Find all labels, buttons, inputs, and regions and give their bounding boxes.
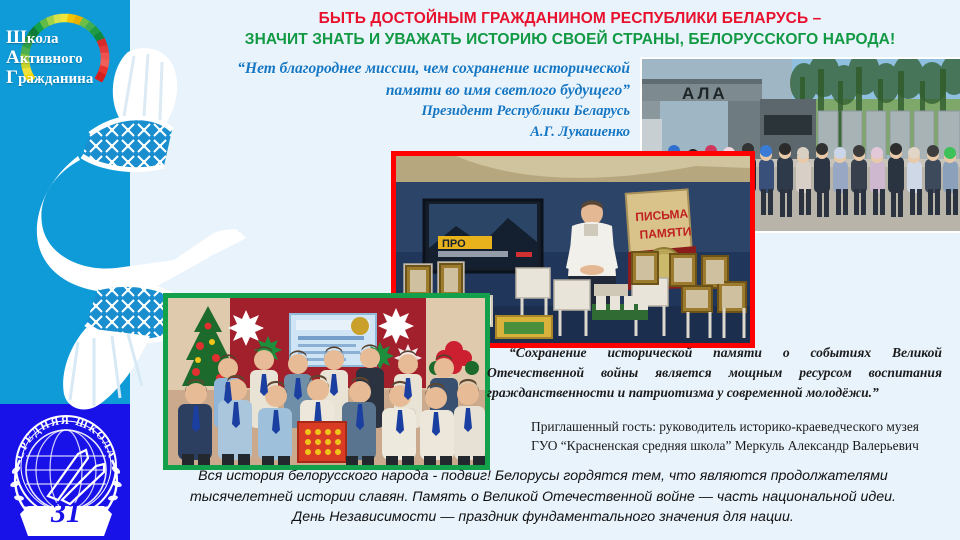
slide-title: БЫТЬ ДОСТОЙНЫМ ГРАЖДАНИНОМ РЕСПУБЛИКИ БЕ… <box>200 8 940 51</box>
photo-students-group <box>163 293 490 470</box>
title-line-1: БЫТЬ ДОСТОЙНЫМ ГРАЖДАНИНОМ РЕСПУБЛИКИ БЕ… <box>200 8 940 29</box>
bottom-narrative-text: Вся история белорусского народа - подвиг… <box>134 466 952 528</box>
emblem-number: 31 <box>4 496 128 530</box>
guest-block-quote: “Сохранение исторической памяти о событи… <box>487 343 942 403</box>
logo-line2-cap: А <box>6 47 20 68</box>
bottom-text-line-1: Вся история белорусского народа - подвиг… <box>134 466 952 487</box>
title-line-2: ЗНАЧИТ ЗНАТЬ И УВАЖАТЬ ИСТОРИЮ СВОЕЙ СТР… <box>200 29 940 50</box>
presentation-slide: Школа Активного Гражданина <box>0 0 960 540</box>
guest-info-line-2: ГУО “Красненская средняя школа” Меркуль … <box>505 436 945 455</box>
logo-line3-cap: Г <box>6 67 18 88</box>
president-quote: “Нет благороднее миссии, чем сохранение … <box>165 58 630 142</box>
president-quote-line-2: памяти во имя светлого будущего” <box>165 80 630 102</box>
screen-caption: ПРО <box>442 238 466 250</box>
bottom-text-line-3: День Независимости — праздник фундамента… <box>134 507 952 528</box>
school-31-emblem: СРЕДНЯЯ ШКОЛА 31 <box>4 408 128 538</box>
president-quote-attribution-2: А.Г. Лукашенко <box>165 122 630 142</box>
bottom-text-line-2: тысячелетней истории славян. Память о Ве… <box>134 487 952 508</box>
memorial-gate-text: АЛА <box>682 84 728 103</box>
guest-info-line-1: Приглашенный гость: руководитель историк… <box>505 417 945 436</box>
president-quote-attribution-1: Президент Республики Беларусь <box>165 101 630 121</box>
guest-info: Приглашенный гость: руководитель историк… <box>505 417 945 455</box>
president-quote-line-1: “Нет благороднее миссии, чем сохранение … <box>165 58 630 80</box>
